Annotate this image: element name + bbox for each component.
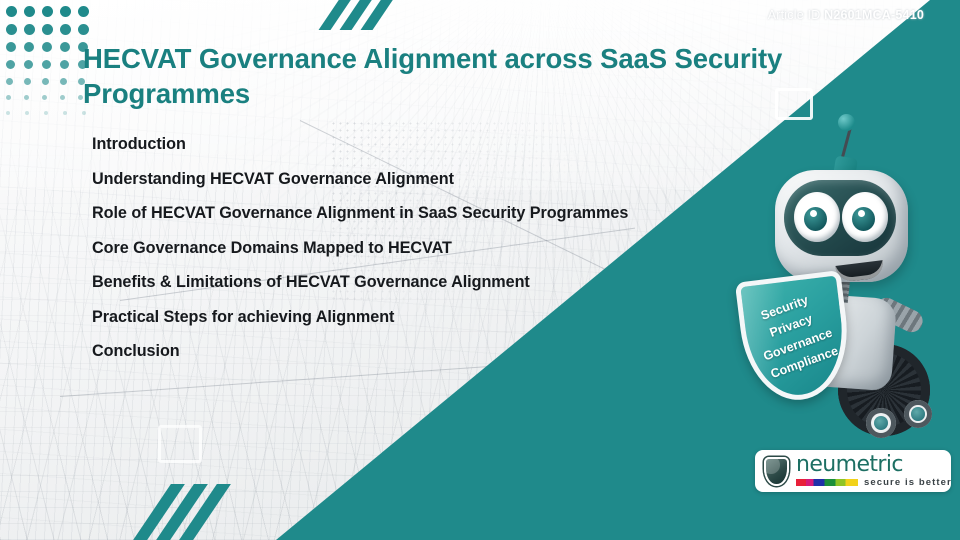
article-id-value: N2601MCA-5410 [824, 8, 924, 22]
shield-text-block: Security Privacy Governance Compliance [736, 283, 853, 389]
toc-item[interactable]: Introduction [92, 136, 732, 152]
square-outline-decoration [158, 425, 202, 463]
logo-color-bar [796, 479, 858, 486]
robot-antenna-ball [838, 114, 855, 131]
robot-mascot: Security Privacy Governance Compliance [726, 108, 960, 438]
toc-item[interactable]: Practical Steps for achieving Alignment [92, 309, 732, 325]
logo-shield-icon [764, 457, 789, 486]
logo-tagline: secure is better [864, 477, 952, 488]
neumetric-logo[interactable]: neumetric secure is better [755, 450, 951, 492]
dot-grid-decoration [6, 6, 89, 115]
robot-wheel-hub-icon [866, 408, 896, 438]
diagonal-stripes-bottom [150, 484, 210, 540]
logo-wordmark: neumetric [796, 454, 952, 476]
presentation-slide: Article ID N2601MCA-5410 HECVAT Governan… [0, 0, 960, 540]
page-title: HECVAT Governance Alignment across SaaS … [83, 42, 843, 111]
toc-item[interactable]: Core Governance Domains Mapped to HECVAT [92, 240, 732, 256]
toc-item[interactable]: Role of HECVAT Governance Alignment in S… [92, 205, 732, 221]
toc-item[interactable]: Benefits & Limitations of HECVAT Governa… [92, 274, 732, 290]
article-id: Article ID N2601MCA-5410 [768, 8, 924, 22]
robot-wheel-hub-icon [904, 400, 932, 428]
robot-eye-glint [858, 210, 865, 217]
diagonal-stripes-top [330, 0, 384, 30]
robot-eye-glint [810, 210, 817, 217]
toc-item[interactable]: Understanding HECVAT Governance Alignmen… [92, 171, 732, 187]
toc-item[interactable]: Conclusion [92, 343, 732, 359]
table-of-contents: Introduction Understanding HECVAT Govern… [92, 136, 732, 378]
article-id-label: Article ID [768, 8, 821, 22]
